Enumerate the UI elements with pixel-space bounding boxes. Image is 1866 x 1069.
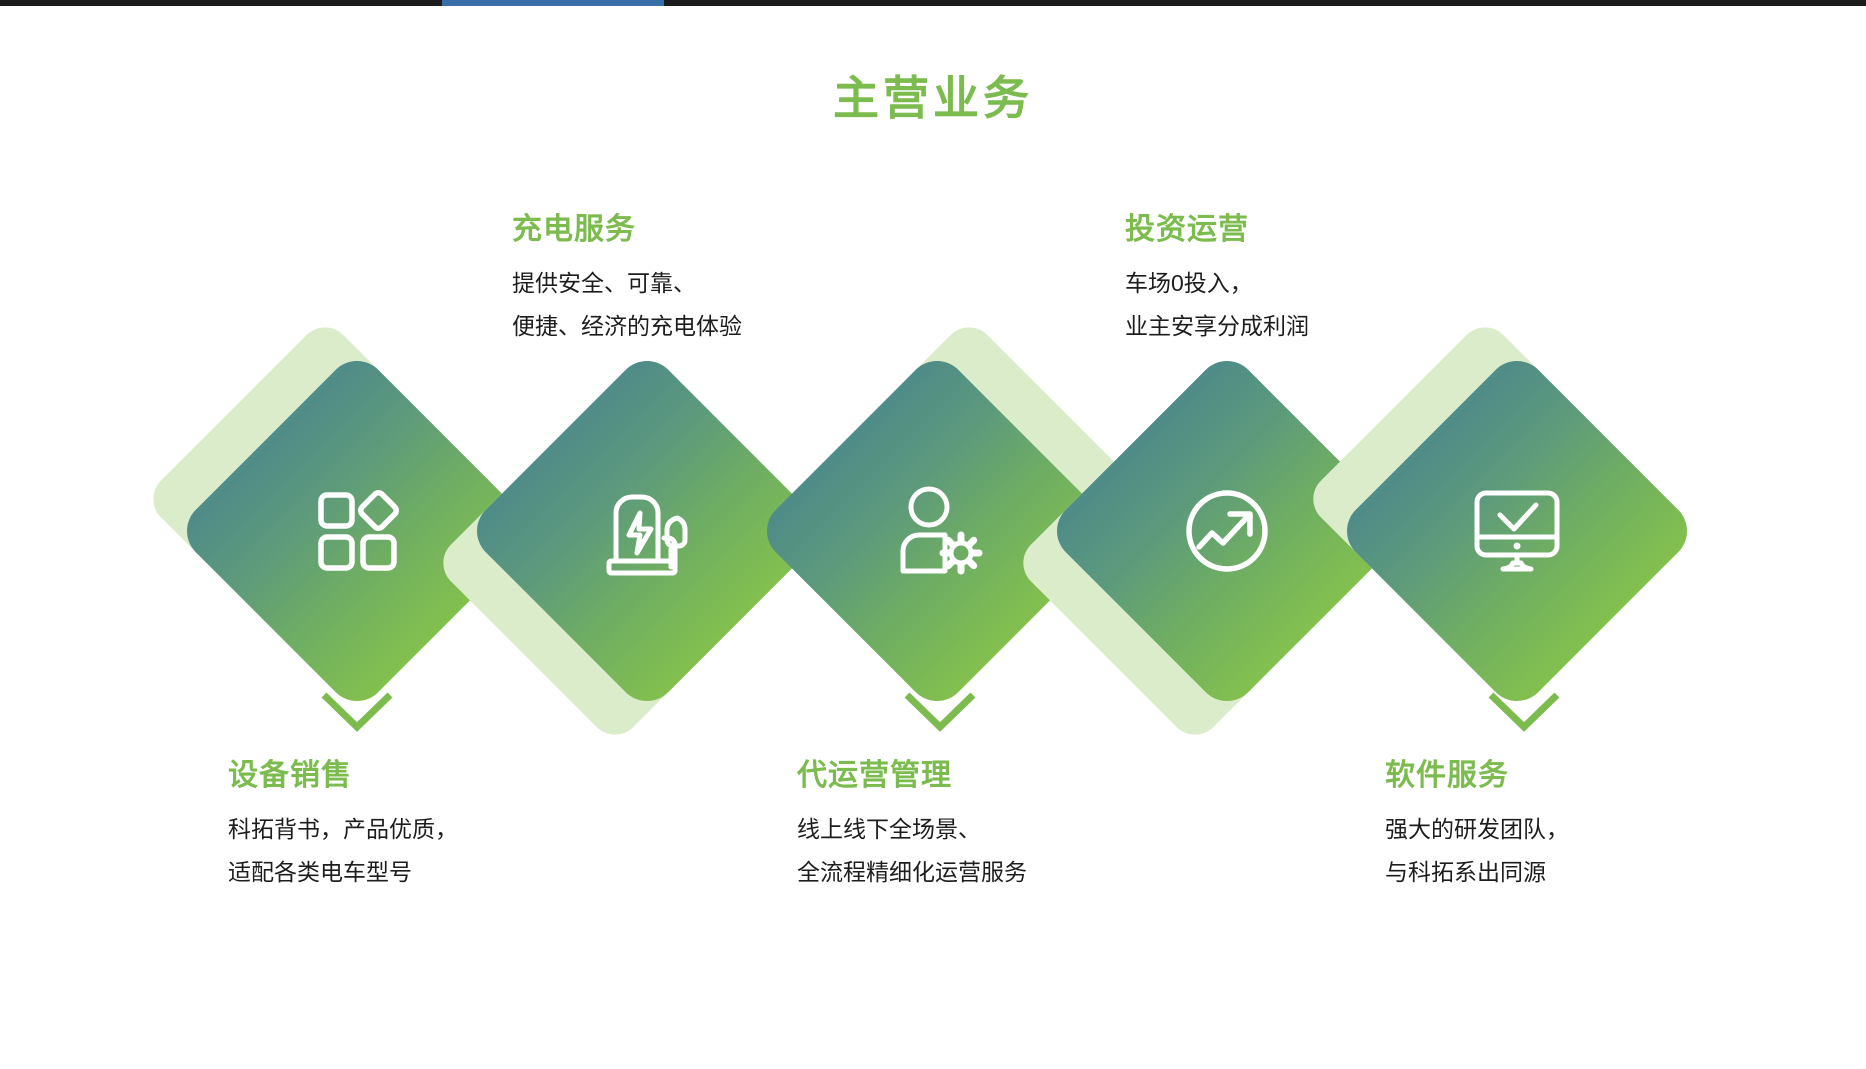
caption-investment-operation: 投资运营 车场0投入， 业主安享分成利润 bbox=[1125, 212, 1309, 347]
caption-line-1: 提供安全、可靠、 bbox=[512, 262, 742, 305]
caption-agency-operation: 代运营管理 线上线下全场景、 全流程精细化运营服务 bbox=[797, 758, 1027, 893]
caption-line-1: 线上线下全场景、 bbox=[797, 808, 1027, 851]
growth-arrow-icon bbox=[1082, 386, 1372, 676]
caption-title: 投资运营 bbox=[1125, 212, 1309, 248]
caption-line-2: 适配各类电车型号 bbox=[228, 851, 458, 894]
charging-station-icon bbox=[502, 386, 792, 676]
caption-line-2: 与科拓系出同源 bbox=[1385, 851, 1569, 894]
caption-line-1: 强大的研发团队， bbox=[1385, 808, 1569, 851]
caption-equipment-sales: 设备销售 科拓背书，产品优质， 适配各类电车型号 bbox=[228, 758, 458, 893]
business-node-equipment-sales[interactable] bbox=[212, 386, 502, 676]
business-node-agency-operation[interactable] bbox=[792, 386, 1082, 676]
caption-title: 充电服务 bbox=[512, 212, 742, 248]
caption-title: 软件服务 bbox=[1385, 758, 1569, 794]
page-title: 主营业务 bbox=[0, 75, 1866, 121]
business-node-row bbox=[0, 386, 1866, 676]
business-overview-slide: 主营业务 充电服务 提供安全、可靠、 便捷、经济的充电体验 投资运营 车场0投入… bbox=[0, 0, 1866, 1069]
monitor-check-icon bbox=[1372, 386, 1662, 676]
grid-shapes-icon bbox=[212, 386, 502, 676]
caption-line-1: 科拓背书，产品优质， bbox=[228, 808, 458, 851]
caption-line-1: 车场0投入， bbox=[1125, 262, 1309, 305]
caption-line-2: 业主安享分成利润 bbox=[1125, 305, 1309, 348]
caption-title: 设备销售 bbox=[228, 758, 458, 794]
business-node-charging-service[interactable] bbox=[502, 386, 792, 676]
caption-title: 代运营管理 bbox=[797, 758, 1027, 794]
caption-charging-service: 充电服务 提供安全、可靠、 便捷、经济的充电体验 bbox=[512, 212, 742, 347]
business-node-software-service[interactable] bbox=[1372, 386, 1662, 676]
user-gear-icon bbox=[792, 386, 1082, 676]
business-node-investment-operation[interactable] bbox=[1082, 386, 1372, 676]
caption-software-service: 软件服务 强大的研发团队， 与科拓系出同源 bbox=[1385, 758, 1569, 893]
caption-line-2: 便捷、经济的充电体验 bbox=[512, 305, 742, 348]
caption-line-2: 全流程精细化运营服务 bbox=[797, 851, 1027, 894]
